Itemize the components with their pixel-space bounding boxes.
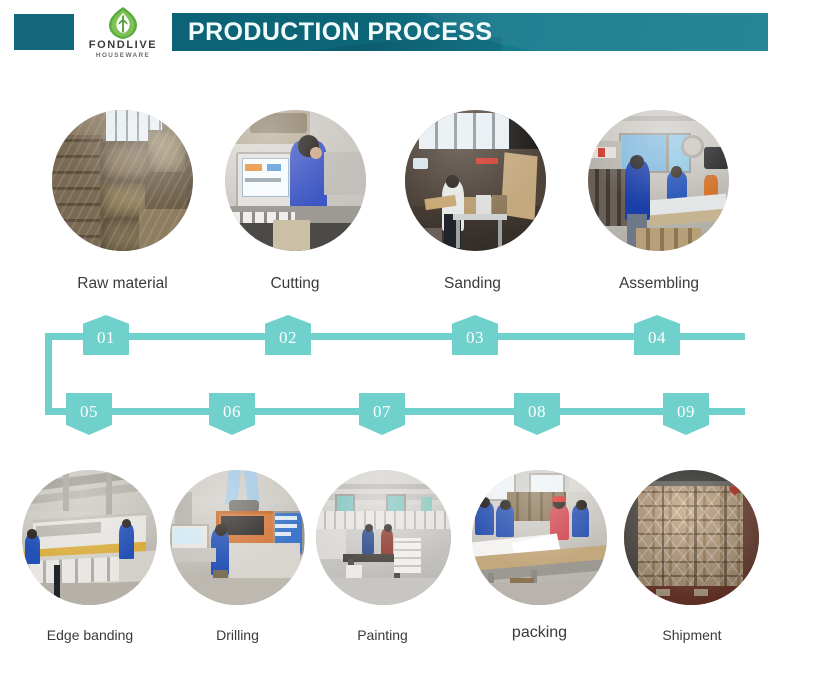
header-accent-block: [14, 14, 74, 50]
timeline-marker-06-label: 06: [223, 402, 241, 422]
process-timeline: 01 02 03 04 05 06 07 08 09: [0, 300, 831, 450]
timeline-marker-01: 01: [83, 315, 129, 355]
timeline-marker-04-label: 04: [648, 328, 666, 348]
caption-edge-banding: Edge banding: [0, 627, 180, 643]
timeline-marker-05-label: 05: [80, 402, 98, 422]
timeline-marker-07: 07: [359, 393, 405, 435]
timeline-marker-08: 08: [514, 393, 560, 435]
caption-packing: packing: [462, 624, 617, 642]
timeline-marker-08-label: 08: [528, 402, 546, 422]
caption-drilling: Drilling: [160, 627, 315, 643]
header: FONDLIVE HOUSEWARE PRODUCTION PROCESS: [0, 0, 831, 72]
timeline-marker-03: 03: [452, 315, 498, 355]
caption-assembling: Assembling: [548, 275, 770, 293]
timeline-marker-02: 02: [265, 315, 311, 355]
timeline-marker-03-label: 03: [466, 328, 484, 348]
timeline-left-connector: [45, 333, 52, 415]
photo-cutting: [225, 110, 366, 251]
photo-raw-material: [52, 110, 193, 251]
timeline-marker-06: 06: [209, 393, 255, 435]
title-banner: PRODUCTION PROCESS: [172, 13, 768, 51]
leaf-logo-icon: [106, 6, 140, 40]
brand-logo: FONDLIVE HOUSEWARE: [88, 6, 158, 64]
photo-assembling: [588, 110, 729, 251]
brand-tagline: HOUSEWARE: [96, 52, 150, 59]
timeline-marker-07-label: 07: [373, 402, 391, 422]
caption-painting: Painting: [305, 627, 460, 643]
photo-sanding: [405, 110, 546, 251]
photo-painting: [316, 470, 451, 605]
timeline-marker-09: 09: [663, 393, 709, 435]
photo-shipment: [624, 470, 759, 605]
timeline-marker-01-label: 01: [97, 328, 115, 348]
photo-drilling: [170, 470, 305, 605]
timeline-marker-04: 04: [634, 315, 680, 355]
timeline-marker-09-label: 09: [677, 402, 695, 422]
brand-name: FONDLIVE: [89, 39, 157, 51]
caption-sanding: Sanding: [370, 275, 575, 293]
photo-packing: [472, 470, 607, 605]
caption-shipment: Shipment: [612, 627, 772, 643]
photo-edge-banding: [22, 470, 157, 605]
production-process-infographic: FONDLIVE HOUSEWARE PRODUCTION PROCESS Ra…: [0, 0, 831, 679]
page-title: PRODUCTION PROCESS: [188, 13, 492, 51]
timeline-marker-05: 05: [66, 393, 112, 435]
timeline-marker-02-label: 02: [279, 328, 297, 348]
